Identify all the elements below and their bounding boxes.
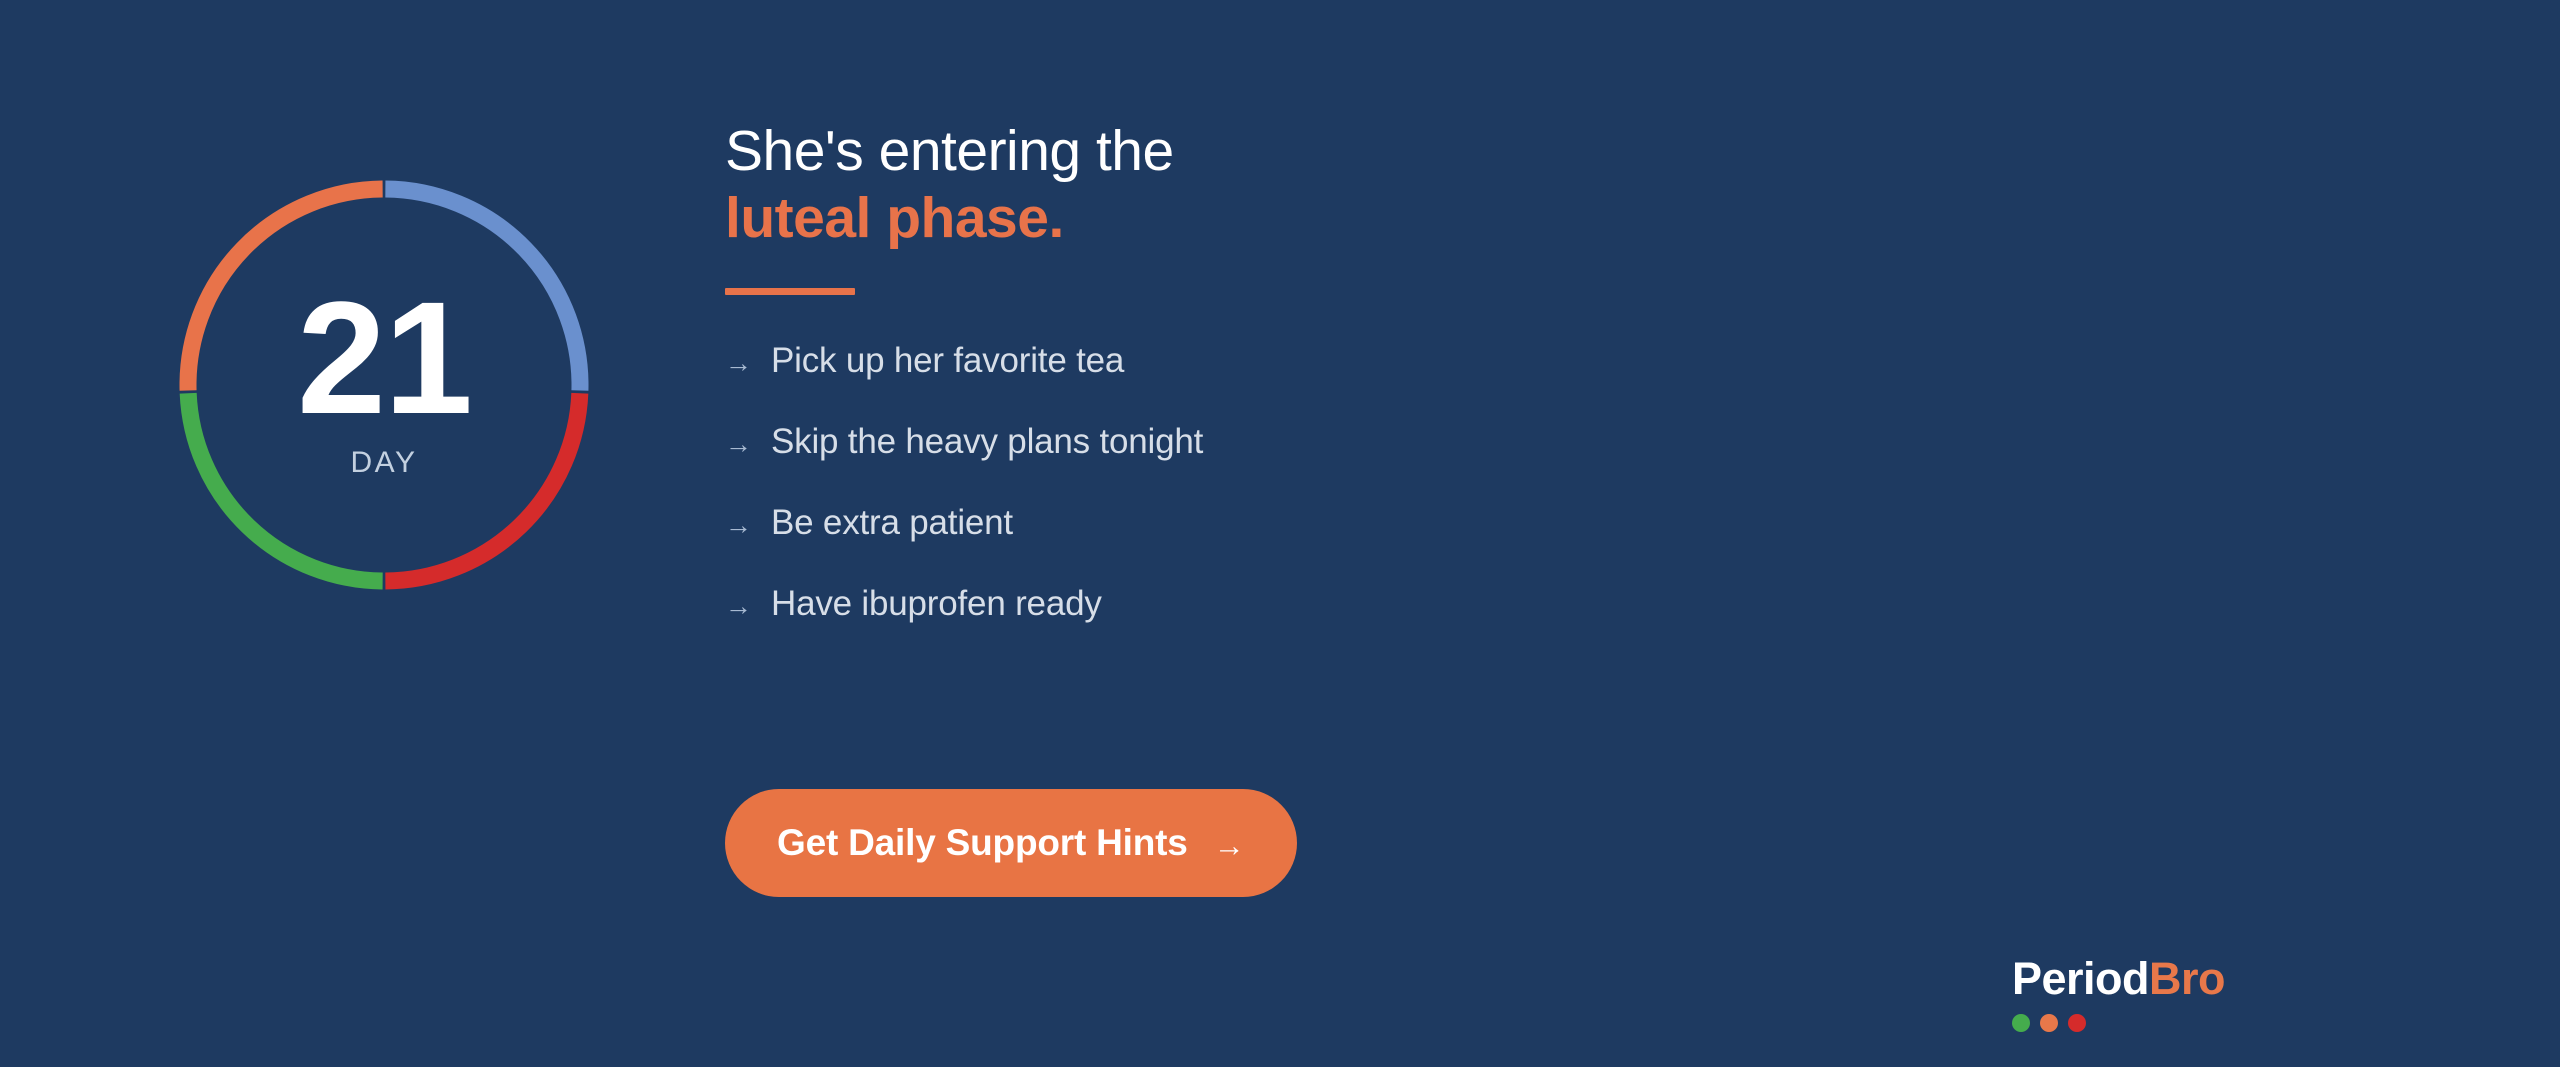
list-item: →Have ibuprofen ready [725,586,1825,667]
support-tips-list: →Pick up her favorite tea→Skip the heavy… [725,343,1825,667]
arrow-right-icon: → [725,431,771,458]
red-dot [2068,1014,2086,1032]
list-item: →Be extra patient [725,505,1825,586]
cycle-ring-center: 21 DAY [172,173,596,597]
list-item: →Skip the heavy plans tonight [725,424,1825,505]
headline-line-1: She's entering the [725,119,1174,183]
brand-name-primary: Period [2012,953,2149,1004]
cycle-day-number: 21 [297,284,471,431]
arrow-right-icon: → [725,350,771,377]
list-item-label: Be extra patient [771,505,1013,540]
list-item-label: Pick up her favorite tea [771,343,1124,378]
brand-logo: PeriodBro [2012,953,2225,1032]
cycle-day-ring: 21 DAY [172,173,596,597]
orange-dot [2040,1014,2058,1032]
brand-wordmark: PeriodBro [2012,953,2225,1005]
arrow-right-icon: → [725,593,771,620]
cycle-day-unit-label: DAY [351,446,418,480]
cta-label: Get Daily Support Hints [777,822,1188,864]
get-daily-support-hints-button[interactable]: Get Daily Support Hints → [725,789,1297,897]
content-column: She's entering the luteal phase. →Pick u… [725,118,1825,667]
headline-phase-name: luteal phase. [725,185,1825,252]
page-title: She's entering the luteal phase. [725,118,1825,253]
arrow-right-icon: → [1214,830,1245,861]
cycle-phase-card: 21 DAY She's entering the luteal phase. … [0,0,2560,1067]
green-dot [2012,1014,2030,1032]
list-item: →Pick up her favorite tea [725,343,1825,424]
arrow-right-icon: → [725,512,771,539]
brand-dots [2012,1014,2225,1032]
accent-divider [725,288,855,295]
brand-name-suffix: Bro [2149,953,2225,1004]
list-item-label: Have ibuprofen ready [771,586,1102,621]
list-item-label: Skip the heavy plans tonight [771,424,1203,459]
